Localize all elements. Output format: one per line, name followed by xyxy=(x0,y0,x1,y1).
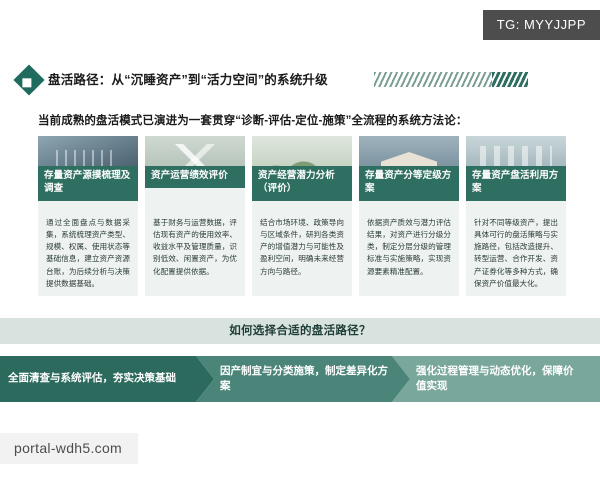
card-body: 基于财务与运营数据，评估现有资产的使用效率、收益水平及管理质量，识别低效、闲置资… xyxy=(145,214,245,284)
card-title: 资产运营绩效评价 xyxy=(145,166,245,188)
arrow-step-2[interactable]: 因产制宜与分类施策，制定差异化方案 xyxy=(196,356,410,402)
diamond-bullet-icon xyxy=(13,64,44,95)
card-body: 结合市场环境、政策导向与区域条件，研判各类资产的增值潜力与可能性及盈利空间，明确… xyxy=(252,214,352,284)
slide-canvas: TG: MYYJJPP 盘活路径：从“沉睡资产”到“活力空间”的系统升级 当前成… xyxy=(0,0,600,480)
lead-in-text: 当前成熟的盘活模式已演进为一套贯穿“诊断-评估-定位-施策”全流程的系统方法论： xyxy=(38,112,467,128)
card-body: 针对不同等级资产，提出具体可行的盘活策略与实施路径，包括改造提升、转型运营、合作… xyxy=(466,214,566,296)
card-title: 存量资产源摸梳理及调查 xyxy=(38,166,138,201)
question-text: 如何选择合适的盘活路径？ xyxy=(0,318,600,344)
arrow-row: 全面清查与系统评估，夯实决策基础 因产制宜与分类施策，制定差异化方案 强化过程管… xyxy=(0,356,600,402)
card-title: 资产经营潜力分析（评价） xyxy=(252,166,352,201)
arrow-step-2-label: 因产制宜与分类施策，制定差异化方案 xyxy=(196,364,410,394)
card-body: 依据资产质效与潜力评估结果，对资产进行分级分类，制定分层分级的管理标准与实施策略… xyxy=(359,214,459,284)
card-item[interactable]: 存量资产分等定级方案 依据资产质效与潜力评估结果，对资产进行分级分类，制定分层分… xyxy=(359,136,459,296)
card-item[interactable]: 存量资产盘活利用方案 针对不同等级资产，提出具体可行的盘活策略与实施路径，包括改… xyxy=(466,136,566,296)
card-item[interactable]: 存量资产源摸梳理及调查 通过全面盘点与数据采集，系统梳理资产类型、规模、权属、使… xyxy=(38,136,138,296)
card-item[interactable]: 资产运营绩效评价 基于财务与运营数据，评估现有资产的使用效率、收益水平及管理质量… xyxy=(145,136,245,296)
arrow-step-1-label: 全面清查与系统评估，夯实决策基础 xyxy=(0,371,194,386)
diamond-bullet-inner-icon xyxy=(22,78,31,87)
title-row: 盘活路径：从“沉睡资产”到“活力空间”的系统升级 xyxy=(18,66,584,96)
card-body: 通过全面盘点与数据采集，系统梳理资产类型、规模、权属、使用状态等基础信息，建立资… xyxy=(38,214,138,296)
card-title: 存量资产分等定级方案 xyxy=(359,166,459,201)
card-title: 存量资产盘活利用方案 xyxy=(466,166,566,201)
arrow-step-1[interactable]: 全面清查与系统评估，夯实决策基础 xyxy=(0,356,214,402)
title-hatch-decoration-light xyxy=(374,72,492,87)
arrow-step-3-label: 强化过程管理与动态优化，保障价值实现 xyxy=(392,364,600,394)
card-row: 存量资产源摸梳理及调查 通过全面盘点与数据采集，系统梳理资产类型、规模、权属、使… xyxy=(38,136,568,296)
arrow-step-3[interactable]: 强化过程管理与动态优化，保障价值实现 xyxy=(392,356,600,402)
card-item[interactable]: 资产经营潜力分析（评价） 结合市场环境、政策导向与区域条件，研判各类资产的增值潜… xyxy=(252,136,352,296)
page-title: 盘活路径：从“沉睡资产”到“活力空间”的系统升级 xyxy=(48,69,328,88)
tg-watermark-tag: TG: MYYJJPP xyxy=(483,10,600,40)
portal-watermark-tag: portal-wdh5.com xyxy=(0,433,138,464)
title-hatch-decoration-dark xyxy=(492,72,528,87)
